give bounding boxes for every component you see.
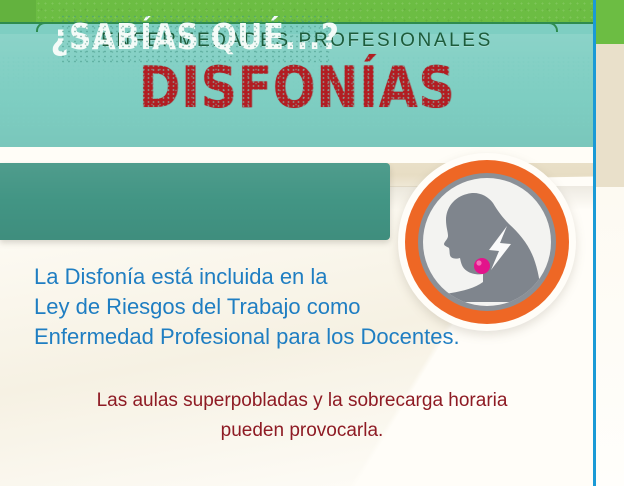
red-line-2: pueden provocarla. [22, 416, 582, 446]
did-you-know-label: ¿SABÍAS QUÉ...? [27, 16, 362, 60]
red-paragraph: Las aulas superpobladas y la sobrecarga … [22, 386, 582, 446]
blue-line-2: Ley de Riesgos del Trabajo como [34, 292, 554, 322]
right-edge-fill [596, 0, 624, 486]
did-you-know-banner [0, 163, 390, 240]
blue-line-3: Enfermedad Profesional para los Docentes… [34, 322, 554, 352]
banner-sheen [0, 163, 390, 240]
red-line-1: Las aulas superpobladas y la sobrecarga … [22, 386, 582, 416]
blue-line-1: La Disfonía está incluida en la [34, 262, 554, 292]
page-title: DISFONÍAS [36, 56, 559, 120]
infographic-poster: ENFERMEDADES PROFESIONALES DISFONÍAS ¿SA… [0, 0, 624, 486]
blue-paragraph: La Disfonía está incluida en la Ley de R… [34, 262, 554, 352]
vertical-blue-rule [593, 0, 596, 486]
